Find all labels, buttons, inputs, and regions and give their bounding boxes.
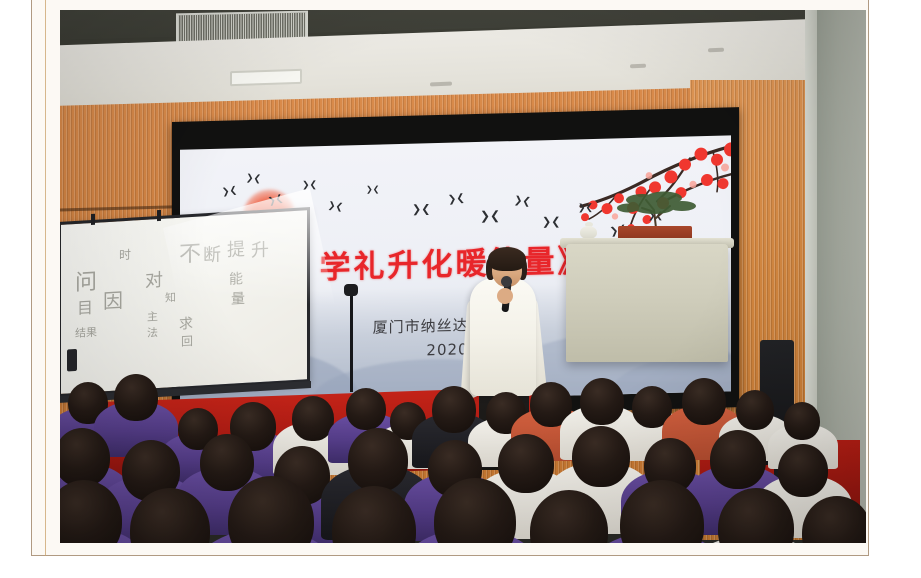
whiteboard-note: 因 [103, 289, 123, 312]
bonsai-plant-icon [612, 188, 704, 230]
seminar-photograph: ❯❮ ❯❮ ❯❮ ❯❮ ❯❮ ❯❮ ❯❮ ❯❮ ❯❮ ❯❮ ❯❮ ❯❮ ❯❮ ❯… [60, 10, 866, 543]
presenter-hair [488, 247, 526, 271]
audience-head [200, 434, 254, 491]
bird-icon: ❯❮ [448, 193, 466, 204]
whiteboard-note: 目 [77, 299, 93, 318]
audience-head [432, 386, 476, 433]
bird-icon: ❯❮ [246, 173, 262, 183]
audience-head [498, 434, 554, 493]
whiteboard-clip [157, 210, 161, 221]
whiteboard-note: 知 [165, 292, 176, 305]
audience-head [784, 402, 820, 440]
frame-inner-line [45, 0, 46, 556]
audience-head [572, 426, 630, 487]
whiteboard-note: 问 [75, 271, 97, 296]
bird-icon: ❯❮ [366, 185, 379, 194]
soffit-mark [630, 64, 646, 69]
bird-icon: ❯❮ [542, 218, 560, 227]
bird-icon: ❯❮ [578, 203, 593, 212]
audience-head [346, 388, 386, 430]
bird-icon: ❯❮ [221, 185, 237, 196]
soffit-mark [708, 48, 724, 53]
tea-table [566, 244, 728, 362]
whiteboard-note: 法 [147, 327, 158, 340]
audience-head [580, 378, 624, 425]
audience-head [348, 428, 408, 492]
microphone-stand [350, 292, 353, 392]
microphone-capsule [501, 276, 512, 287]
microphone-stand-head [344, 284, 358, 296]
whiteboard-marker [67, 349, 77, 372]
whiteboard-note: 时 [119, 249, 131, 263]
soffit-mark [430, 82, 452, 87]
bird-icon: ❯❮ [480, 211, 500, 221]
whiteboard-note: 主 [147, 311, 158, 324]
audience-head [778, 444, 828, 497]
audience-head [682, 378, 726, 425]
whiteboard-clip [91, 214, 95, 225]
page-root: ❯❮ ❯❮ ❯❮ ❯❮ ❯❮ ❯❮ ❯❮ ❯❮ ❯❮ ❯❮ ❯❮ ❯❮ ❯❮ ❯… [0, 0, 921, 578]
presenter-hand [497, 288, 513, 304]
ceiling-light [230, 69, 302, 87]
audience-head [60, 428, 110, 487]
whiteboard-note: 结果 [75, 327, 97, 340]
bird-icon: ❯❮ [513, 196, 531, 207]
bird-icon: ❯❮ [327, 201, 343, 212]
whiteboard-note: 对 [145, 271, 163, 292]
audience-head [710, 430, 766, 489]
whiteboard: 问目因结果时对知主法不断提升能量求回 [60, 207, 310, 397]
audience-head [736, 390, 774, 430]
bird-icon: ❯❮ [412, 205, 430, 214]
audience-head [114, 374, 158, 421]
